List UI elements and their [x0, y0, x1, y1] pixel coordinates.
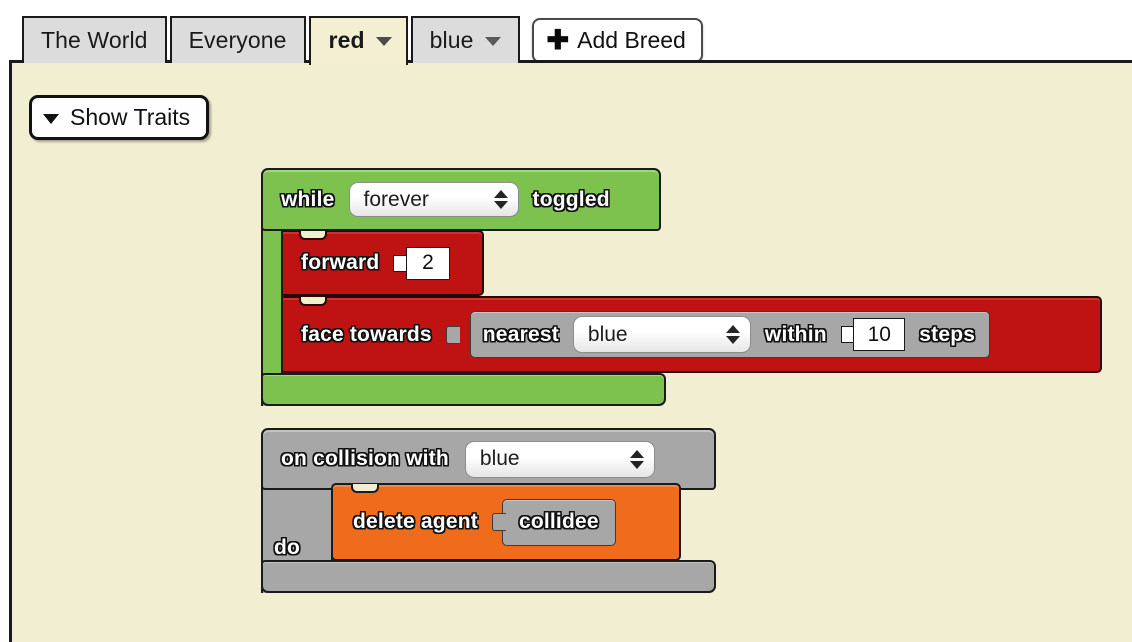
reporter-collidee[interactable]: collidee	[502, 499, 616, 546]
tab-label: Everyone	[189, 27, 287, 54]
forward-steps-input[interactable]: 2	[393, 247, 450, 280]
add-breed-label: Add Breed	[577, 27, 686, 54]
within-steps-value: 10	[853, 318, 905, 351]
tab-label: The World	[41, 27, 148, 54]
show-traits-label: Show Traits	[70, 104, 190, 131]
script-while-forever[interactable]: while forever toggled forward 2 face tow…	[261, 168, 1111, 403]
forward-steps-value: 2	[406, 247, 450, 280]
updown-arrows-icon[interactable]	[494, 190, 508, 209]
reporter-plug-icon	[492, 513, 506, 531]
add-breed-button[interactable]: ✚ Add Breed	[532, 18, 703, 63]
collision-breed-dropdown[interactable]: blue	[465, 441, 655, 478]
collision-block-header[interactable]: on collision with blue	[261, 428, 716, 490]
reporter-plug-icon	[446, 326, 460, 344]
while-condition-dropdown[interactable]: forever	[349, 182, 519, 217]
within-label: within	[765, 323, 827, 347]
chevron-down-icon[interactable]	[485, 37, 501, 46]
plus-icon: ✚	[547, 30, 570, 52]
while-suffix-label: toggled	[533, 188, 610, 212]
nearest-breed-value: blue	[588, 323, 718, 347]
while-block-header[interactable]: while forever toggled	[261, 168, 661, 231]
block-notch	[299, 297, 327, 306]
updown-arrows-icon[interactable]	[726, 325, 740, 344]
while-keyword-label: while	[281, 188, 335, 212]
block-notch	[351, 484, 379, 493]
updown-arrows-icon[interactable]	[630, 450, 644, 469]
block-forward[interactable]: forward 2	[279, 230, 484, 296]
tab-red[interactable]: red	[309, 16, 408, 65]
block-delete-agent[interactable]: delete agent collidee	[331, 483, 681, 561]
tab-blue[interactable]: blue	[411, 16, 520, 63]
tab-everyone[interactable]: Everyone	[170, 16, 306, 63]
collision-block-foot	[261, 560, 716, 593]
nearest-label: nearest	[483, 323, 559, 347]
script-workspace: Show Traits while forever toggled forwar…	[9, 60, 1132, 642]
tab-label: blue	[430, 27, 474, 54]
while-condition-value: forever	[364, 188, 486, 212]
block-notch	[299, 231, 327, 240]
steps-label: steps	[919, 323, 975, 347]
forward-label: forward	[301, 251, 379, 275]
block-face-towards[interactable]: face towards nearest blue within 10 step…	[279, 296, 1102, 373]
chevron-down-icon[interactable]	[376, 37, 392, 46]
tab-the-world[interactable]: The World	[22, 16, 167, 63]
collidee-label: collidee	[519, 510, 599, 534]
breed-tab-bar: The World Everyone red blue ✚ Add Breed	[0, 0, 1132, 63]
do-label: do	[274, 536, 300, 560]
within-steps-input[interactable]: 10	[841, 318, 906, 351]
collision-breed-value: blue	[480, 447, 622, 471]
show-traits-button[interactable]: Show Traits	[29, 95, 209, 140]
caret-down-icon	[43, 114, 59, 124]
script-on-collision[interactable]: do on collision with blue delete agent c…	[261, 428, 731, 593]
reporter-nearest[interactable]: nearest blue within 10 steps	[470, 311, 990, 358]
on-collision-with-label: on collision with	[281, 447, 449, 471]
tab-label: red	[329, 27, 365, 54]
face-towards-label: face towards	[301, 323, 432, 347]
nearest-breed-dropdown[interactable]: blue	[573, 316, 751, 353]
delete-agent-label: delete agent	[353, 510, 478, 534]
while-block-foot	[261, 373, 666, 406]
